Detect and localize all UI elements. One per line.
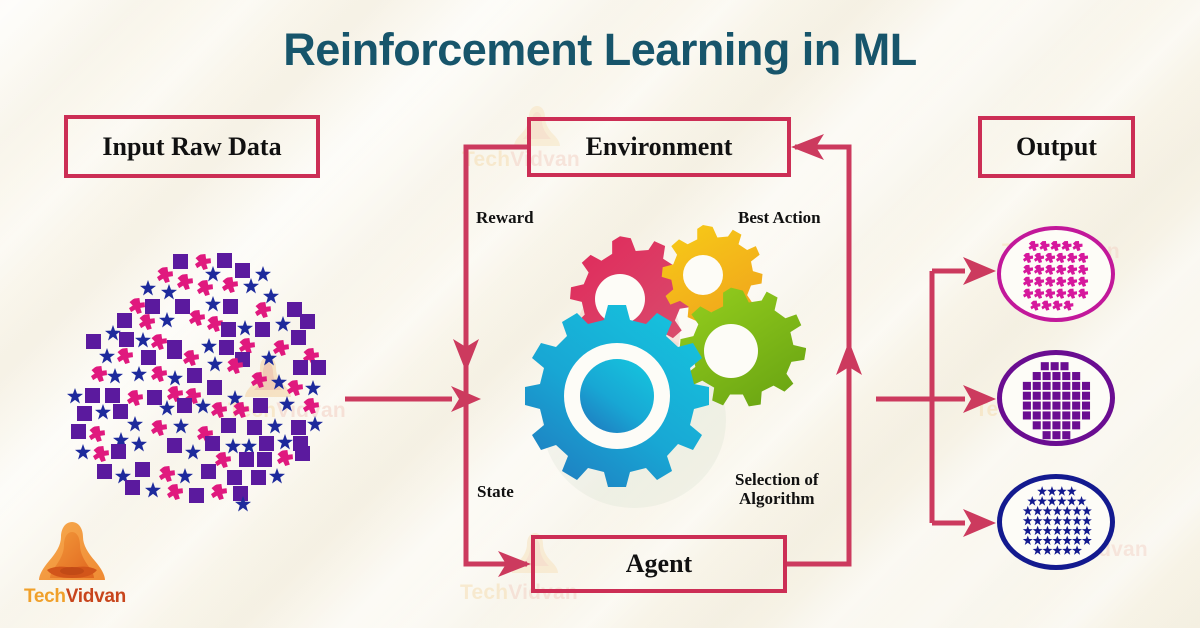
arrow-to-output-fan — [876, 257, 996, 537]
arrow-input-to-environment — [345, 386, 481, 412]
gear-cluster — [506, 215, 806, 525]
box-environment-label: Environment — [586, 132, 733, 162]
box-agent[interactable]: Agent — [531, 535, 787, 593]
logo-tech: Tech — [24, 586, 66, 607]
box-agent-label: Agent — [626, 549, 692, 579]
techvidvan-logo[interactable]: TechVidvan — [22, 520, 122, 615]
square-grid — [1023, 362, 1090, 439]
cluster-shapes — [67, 253, 326, 511]
box-environment[interactable]: Environment — [527, 117, 791, 177]
output-circle-squares[interactable] — [997, 350, 1115, 446]
cross-grid — [1023, 241, 1088, 311]
logo-vidvan: Vidvan — [66, 586, 126, 607]
output-circle-crosses[interactable] — [997, 226, 1115, 322]
diagram-canvas: TechVidvan TechVidvan TechVidvan TechVid… — [0, 0, 1200, 628]
star-grid — [1023, 486, 1092, 555]
box-output-label: Output — [1016, 132, 1097, 162]
box-input-raw-data[interactable]: Input Raw Data — [64, 115, 320, 178]
techvidvan-figure-icon — [22, 520, 122, 588]
box-output[interactable]: Output — [978, 116, 1135, 178]
box-input-raw-data-label: Input Raw Data — [102, 132, 281, 162]
output-circle-stars[interactable] — [997, 474, 1115, 570]
techvidvan-logo-text: TechVidvan — [24, 586, 122, 608]
input-data-cluster — [55, 240, 360, 525]
